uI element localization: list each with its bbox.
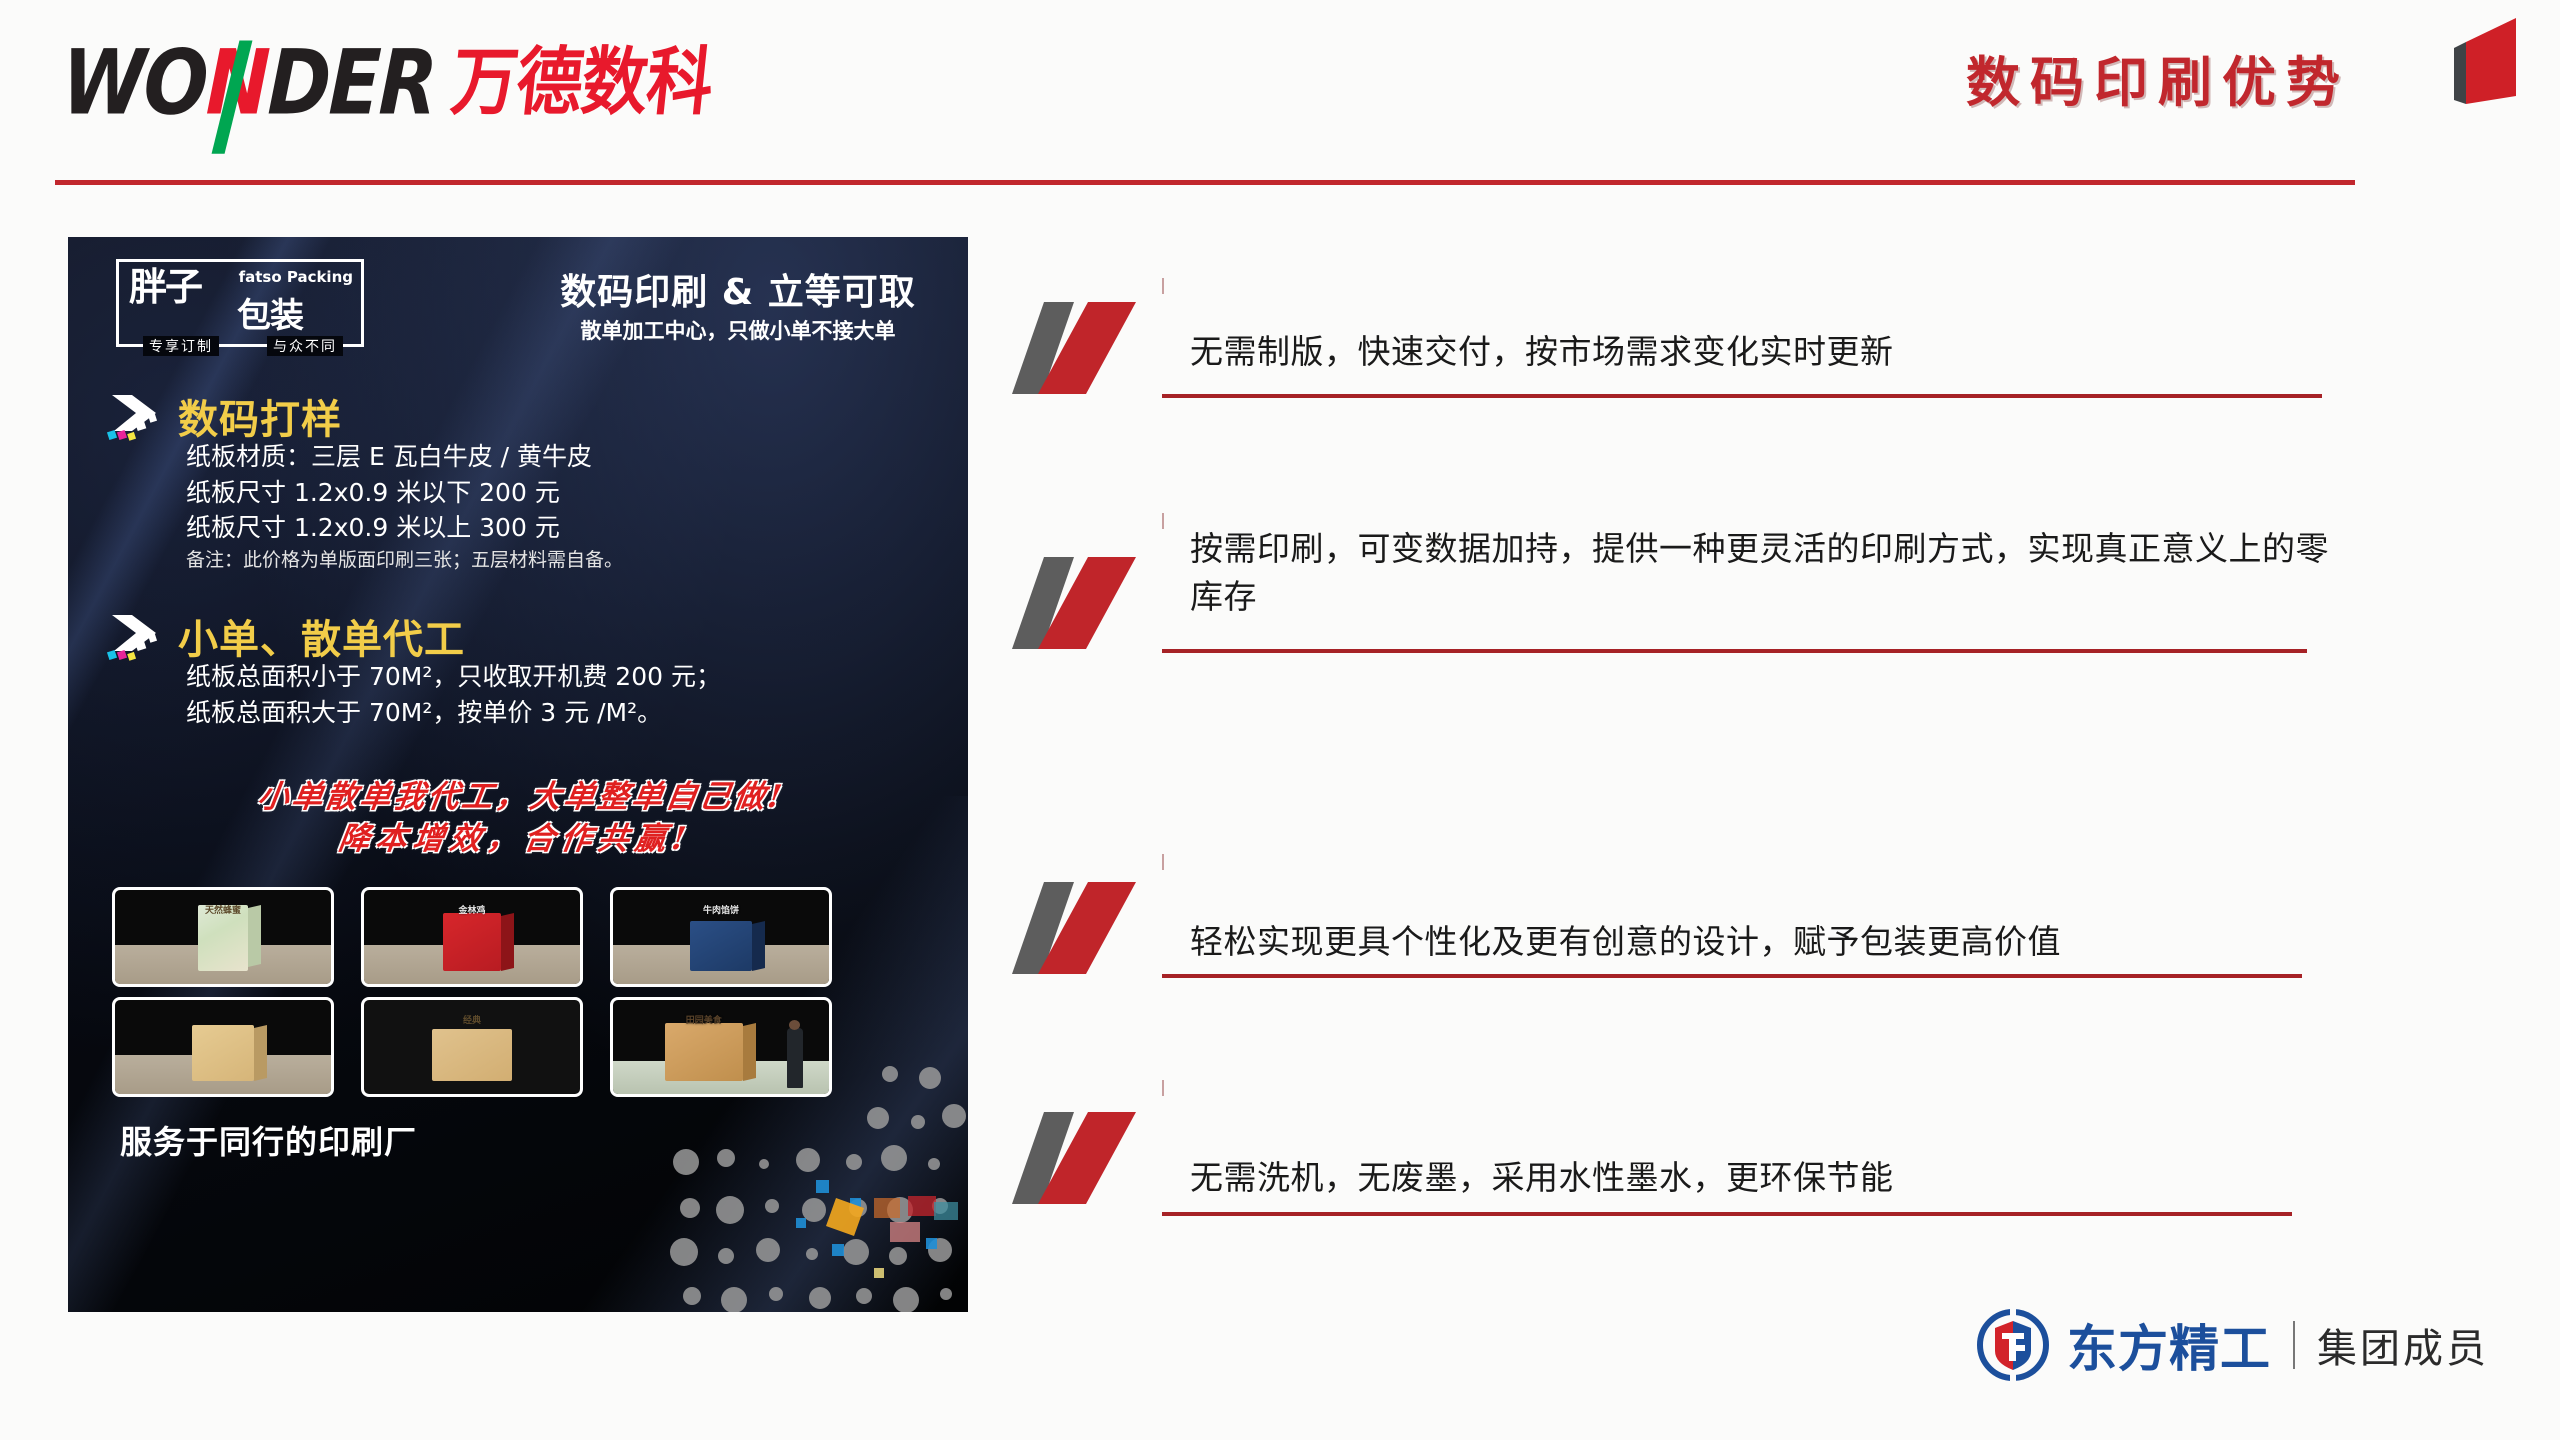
- section-line: 纸板尺寸 1.2x0.9 米以上 300 元: [186, 510, 623, 546]
- footer-divider: [2293, 1321, 2295, 1369]
- photo-label: 牛肉馅饼: [703, 903, 739, 916]
- bullet-text: 无需制版，快速交付，按市场需求变化实时更新: [1190, 328, 2340, 376]
- wonder-wordmark: WONDER: [60, 38, 437, 128]
- poster-footer-text: 服务于同行的印刷厂: [120, 1117, 417, 1163]
- product-photo-grid: 天然蜂蜜 金林鸡 牛肉馅饼 经典 田园美食: [112, 887, 924, 1097]
- corner-mark-icon: [2420, 8, 2540, 108]
- fatso-logo-cn-top: 胖子: [129, 268, 201, 308]
- product-photo: 天然蜂蜜: [112, 887, 334, 987]
- product-photo: 金林鸡: [361, 887, 583, 987]
- section-line: 纸板材质：三层 E 瓦白牛皮 / 黄牛皮: [186, 439, 623, 475]
- fatso-tagline-left: 专享订制: [143, 336, 219, 356]
- footer-group-logo: 东方精工 集团成员: [1975, 1305, 2489, 1385]
- fatso-packing-logo: 胖子 fatso Packing 包装 专享订制 与众不同: [116, 259, 364, 347]
- wonder-wordmark-post: DER: [266, 30, 437, 135]
- bullet-text: 轻松实现更具个性化及更有创意的设计，赋予包装更高价值: [1190, 918, 2340, 966]
- photo-label: 金林鸡: [458, 903, 485, 916]
- photo-box: [443, 913, 501, 971]
- fatso-logo-taglines: 专享订制 与众不同: [119, 336, 367, 356]
- wonder-wordmark-pre: WO: [60, 30, 208, 135]
- chevron-arrow-icon: [106, 611, 168, 667]
- product-photo: [112, 997, 334, 1097]
- slogan-line-2: 降本增效，合作共赢!: [68, 819, 968, 861]
- section-line: 纸板总面积大于 70M²，按单价 3 元 /M²。: [186, 695, 721, 731]
- slogan-line-1: 小单散单我代工，大单整单自己做!: [68, 777, 968, 819]
- bullet-tick-mark: [1162, 854, 1164, 870]
- section-title: 数码打样: [178, 387, 342, 445]
- section-title: 小单、散单代工: [178, 607, 465, 665]
- double-chevron-icon: [1012, 300, 1180, 396]
- promo-poster-image: 胖子 fatso Packing 包装 专享订制 与众不同 数码印刷 & 立等可…: [68, 237, 968, 1312]
- footer-company-name: 东方精工: [2067, 1309, 2271, 1381]
- section-body: 纸板材质：三层 E 瓦白牛皮 / 黄牛皮 纸板尺寸 1.2x0.9 米以下 20…: [186, 439, 623, 574]
- bullet-underline: [1162, 1212, 2292, 1216]
- product-photo: 田园美食: [610, 997, 832, 1097]
- double-chevron-icon: [1012, 1110, 1180, 1206]
- section-note: 备注：此价格为单版面印刷三张；五层材料需自备。: [186, 546, 623, 575]
- photo-label: 天然蜂蜜: [205, 903, 241, 916]
- photo-box: [432, 1029, 512, 1081]
- product-photo: 牛肉馅饼: [610, 887, 832, 987]
- section-body: 纸板总面积小于 70M²，只收取开机费 200 元； 纸板总面积大于 70M²，…: [186, 659, 721, 730]
- fatso-tagline-right: 与众不同: [267, 336, 343, 356]
- dongfang-jinggong-logo-icon: [1975, 1307, 2051, 1383]
- page-title: 数码印刷优势: [1966, 38, 2350, 117]
- bullet-tick-mark: [1162, 513, 1164, 529]
- photo-person: [787, 1028, 803, 1088]
- poster-subheadline: 散单加工中心，只做小单不接大单: [528, 315, 948, 345]
- bullet-underline: [1162, 974, 2302, 978]
- footer-membership-label: 集团成员: [2317, 1316, 2489, 1374]
- bullet-tick-mark: [1162, 1080, 1164, 1096]
- chevron-arrow-icon: [106, 391, 168, 447]
- poster-header: 胖子 fatso Packing 包装 专享订制 与众不同 数码印刷 & 立等可…: [68, 237, 968, 367]
- double-chevron-icon: [1012, 880, 1180, 976]
- photo-box: [192, 1025, 254, 1081]
- bullet-text: 无需洗机，无废墨，采用水性墨水，更环保节能: [1190, 1154, 2340, 1202]
- page-header: WONDER 万德数科 数码印刷优势: [0, 0, 2560, 190]
- header-divider-rule: [55, 180, 2355, 185]
- photo-label: 田园美食: [686, 1013, 722, 1026]
- poster-slogan: 小单散单我代工，大单整单自己做! 降本增效，合作共赢!: [68, 777, 968, 861]
- bullet-tick-mark: [1162, 278, 1164, 294]
- poster-headline: 数码印刷 & 立等可取: [528, 263, 948, 315]
- fatso-logo-cn-bottom: 包装: [237, 288, 303, 337]
- section-line: 纸板总面积小于 70M²，只收取开机费 200 元；: [186, 659, 721, 695]
- photo-box: [690, 921, 752, 971]
- bullet-underline: [1162, 649, 2307, 653]
- wonder-chinese-name: 万德数科: [448, 46, 716, 120]
- corner-mark-decoration: [2420, 8, 2540, 108]
- photo-label: 经典: [463, 1013, 481, 1026]
- fatso-logo-en: fatso Packing: [239, 268, 353, 286]
- bullet-underline: [1162, 394, 2322, 398]
- photo-box: [665, 1023, 743, 1081]
- double-chevron-icon: [1012, 555, 1180, 651]
- wonder-brand-logo: WONDER 万德数科: [62, 38, 712, 128]
- product-photo: 经典: [361, 997, 583, 1097]
- bullet-text: 按需印刷，可变数据加持，提供一种更灵活的印刷方式，实现真正意义上的零库存: [1190, 525, 2340, 621]
- section-line: 纸板尺寸 1.2x0.9 米以下 200 元: [186, 475, 623, 511]
